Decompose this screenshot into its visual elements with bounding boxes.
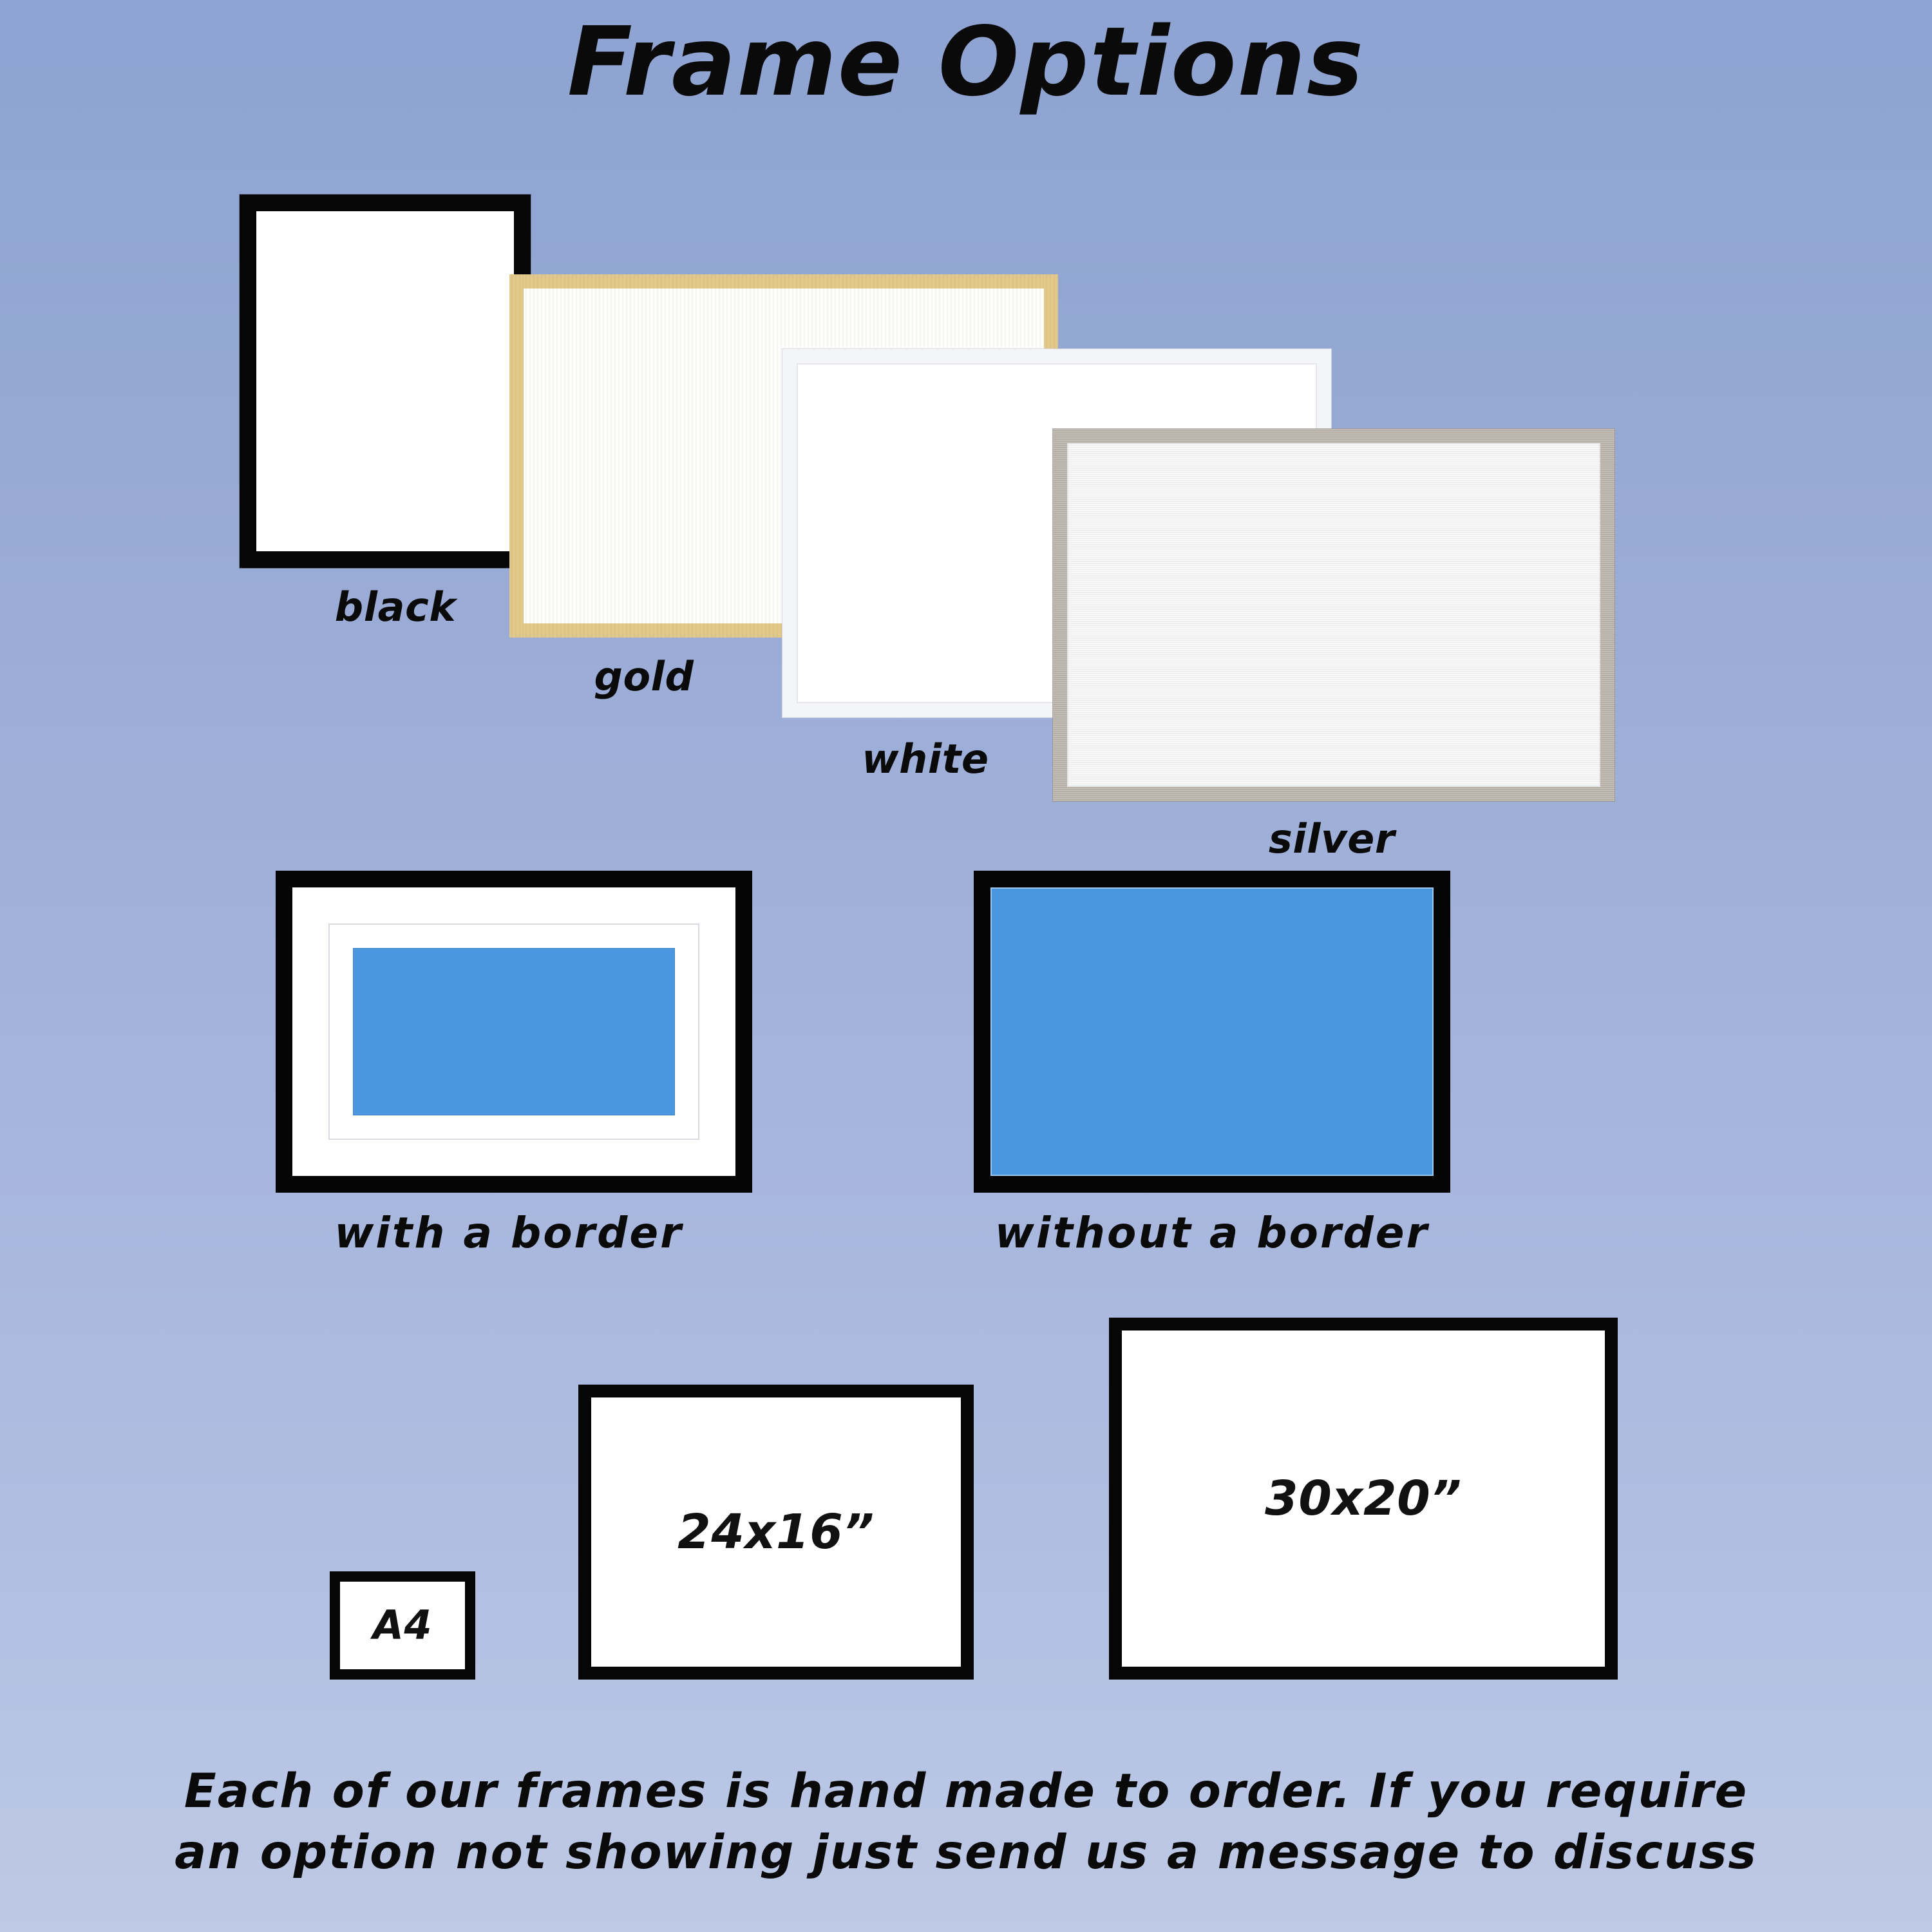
black-frame-label: black	[335, 587, 457, 627]
with-border-frame[interactable]	[276, 871, 752, 1193]
footer-note-line-1: Each of our frames is hand made to order…	[0, 1761, 1932, 1823]
black-frame[interactable]	[240, 194, 531, 568]
footer-note-line-2: an option not showing just send us a mes…	[0, 1823, 1932, 1884]
without-border-frame[interactable]	[974, 871, 1450, 1193]
frame-options-poster: Frame Options black gold white silver wi…	[0, 0, 1932, 1932]
mat-board	[328, 923, 699, 1140]
footer-note: Each of our frames is hand made to order…	[0, 1761, 1932, 1884]
size-frame-30x20[interactable]: 30x20”	[1109, 1318, 1618, 1680]
page-title: Frame Options	[0, 14, 1932, 109]
size-label-30x20: 30x20”	[1265, 1475, 1462, 1522]
silver-frame-label: silver	[1269, 819, 1395, 859]
silver-frame[interactable]	[1053, 429, 1615, 801]
size-frame-a4[interactable]: A4	[330, 1571, 475, 1680]
white-frame-label: white	[862, 739, 989, 779]
size-label-24x16: 24x16”	[677, 1508, 875, 1556]
without-border-label: without a border	[995, 1212, 1429, 1255]
with-border-label: with a border	[334, 1212, 683, 1255]
artwork-area	[353, 948, 675, 1115]
artwork-area-full-bleed	[990, 887, 1434, 1176]
size-frame-24x16[interactable]: 24x16”	[578, 1385, 974, 1680]
gold-frame-label: gold	[594, 657, 694, 697]
size-label-a4: A4	[373, 1605, 432, 1645]
silver-frame-inner-lip	[1067, 443, 1600, 787]
